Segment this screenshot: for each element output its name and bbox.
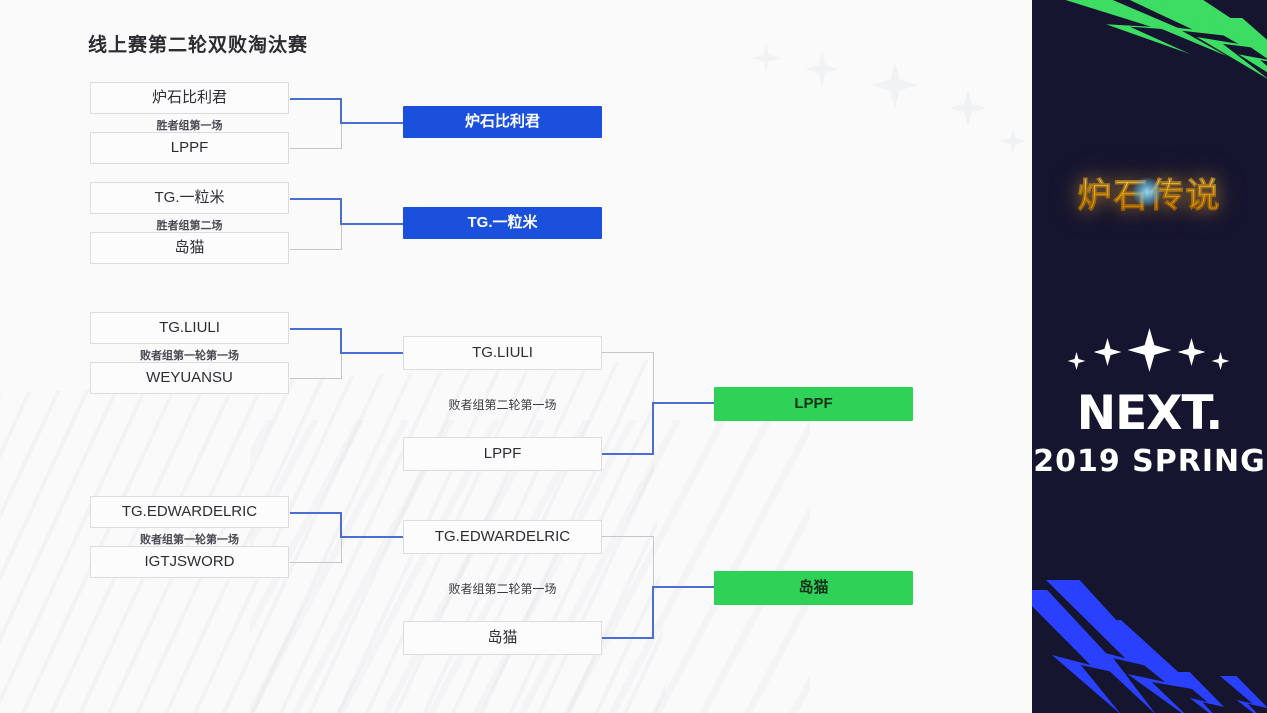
connector-m1-top [290, 98, 342, 100]
winner-box-upper-1[interactable]: 炉石比利君 [403, 106, 602, 138]
connector-m1-vertical-top [340, 98, 342, 124]
match-label-r2b: 败者组第二轮第一场 [403, 580, 602, 597]
hearthstone-logo: 炉石传说 [1032, 168, 1267, 217]
connector-r2a-top [602, 352, 654, 353]
match-label-m1: 胜者组第一场 [90, 117, 289, 133]
lightning-bolt-icon [1088, 620, 1198, 713]
connector-m1-vertical-bottom [341, 122, 342, 149]
team-box-r2b-top[interactable]: TG.EDWARDELRIC [403, 520, 602, 554]
winner-box-lower-1[interactable]: LPPF [714, 387, 913, 421]
watermark-star-icon [950, 90, 986, 126]
connector-m3-vertical-top [340, 328, 342, 354]
watermark-star-icon [805, 52, 839, 86]
match-label-m3: 败者组第一轮第一场 [90, 347, 289, 363]
connector-m2-vertical-top [340, 198, 342, 224]
star-icon [1178, 338, 1206, 366]
tournament-bracket-page: 线上赛第二轮双败淘汰赛 炉石比利君 胜者组第一场 LPPF 炉石比利君 TG.一… [0, 0, 1267, 713]
star-icon [1094, 338, 1122, 366]
team-box-m1-bottom[interactable]: LPPF [90, 132, 289, 164]
connector-m1-out [340, 122, 404, 124]
lightning-bolt-icon [1040, 0, 1190, 54]
connector-r2a-bottom [602, 453, 654, 455]
star-icon [1128, 328, 1172, 372]
connector-m1-bottom [290, 148, 342, 149]
connector-r2b-bottom [602, 637, 654, 639]
winner-box-lower-2[interactable]: 岛猫 [714, 571, 913, 605]
connector-m3-top [290, 328, 342, 330]
connector-m3-bottom [290, 378, 342, 379]
watermark-star-icon [1000, 128, 1026, 154]
team-box-r2b-bottom[interactable]: 岛猫 [403, 621, 602, 655]
star-cluster [1060, 328, 1240, 384]
match-label-m2: 胜者组第二场 [90, 217, 289, 233]
connector-m2-bottom [290, 249, 342, 250]
connector-r2b-top [602, 536, 654, 537]
connector-r2a-vertical-bottom [652, 402, 654, 455]
team-box-m3-top[interactable]: TG.LIULI [90, 312, 289, 344]
next-season-label: 2019 SPRING [1032, 447, 1267, 477]
connector-m4-bottom [290, 562, 342, 563]
bracket-canvas: 线上赛第二轮双败淘汰赛 炉石比利君 胜者组第一场 LPPF 炉石比利君 TG.一… [0, 0, 1032, 713]
connector-r2a-vertical-top [653, 352, 654, 402]
team-box-m4-bottom[interactable]: IGTJSWORD [90, 546, 289, 578]
next-event-logo: NEXT. 2019 SPRING [1032, 328, 1267, 477]
connector-r2b-out [652, 586, 715, 588]
match-label-r2a: 败者组第二轮第一场 [403, 396, 602, 413]
team-box-r2a-bottom[interactable]: LPPF [403, 437, 602, 471]
page-title: 线上赛第二轮双败淘汰赛 [88, 30, 308, 57]
hearthstone-logo-text: 炉石传说 [1078, 168, 1222, 217]
watermark-star-icon [872, 62, 918, 108]
connector-r2b-vertical-top [653, 536, 654, 586]
connector-m3-out [340, 352, 404, 354]
star-icon [1212, 352, 1230, 370]
star-icon [1068, 352, 1086, 370]
lightning-bolt-icon [1172, 672, 1224, 713]
connector-m4-vertical-bottom [341, 536, 342, 563]
watermark-star-icon [752, 44, 780, 72]
connector-m2-vertical-bottom [341, 223, 342, 250]
lightning-bolt-icon [1150, 0, 1267, 80]
lightning-bolt-icon [1220, 676, 1267, 713]
connector-r2a-out [652, 402, 715, 404]
team-box-m1-top[interactable]: 炉石比利君 [90, 82, 289, 114]
connector-r2b-vertical-bottom [652, 586, 654, 639]
connector-m4-top [290, 512, 342, 514]
team-box-m2-bottom[interactable]: 岛猫 [90, 232, 289, 264]
connector-m4-out [340, 536, 404, 538]
connector-m2-out [340, 223, 404, 225]
team-box-m2-top[interactable]: TG.一粒米 [90, 182, 289, 214]
connector-m3-vertical-bottom [341, 352, 342, 379]
connector-m2-top [290, 198, 342, 200]
next-wordmark: NEXT. [1032, 390, 1267, 437]
team-box-r2a-top[interactable]: TG.LIULI [403, 336, 602, 370]
lightning-bolt-icon [1208, 18, 1267, 88]
winner-box-upper-2[interactable]: TG.一粒米 [403, 207, 602, 239]
team-box-m3-bottom[interactable]: WEYUANSU [90, 362, 289, 394]
lightning-bolt-icon [1032, 590, 1136, 713]
team-box-m4-top[interactable]: TG.EDWARDELRIC [90, 496, 289, 528]
lightning-bolt-icon [1100, 0, 1232, 56]
branding-sidebar: 炉石传说 NEXT. 2019 SPRING [1032, 0, 1267, 713]
connector-m4-vertical-top [340, 512, 342, 538]
match-label-m4: 败者组第一轮第一场 [90, 531, 289, 547]
lightning-bolt-icon [1046, 580, 1166, 713]
